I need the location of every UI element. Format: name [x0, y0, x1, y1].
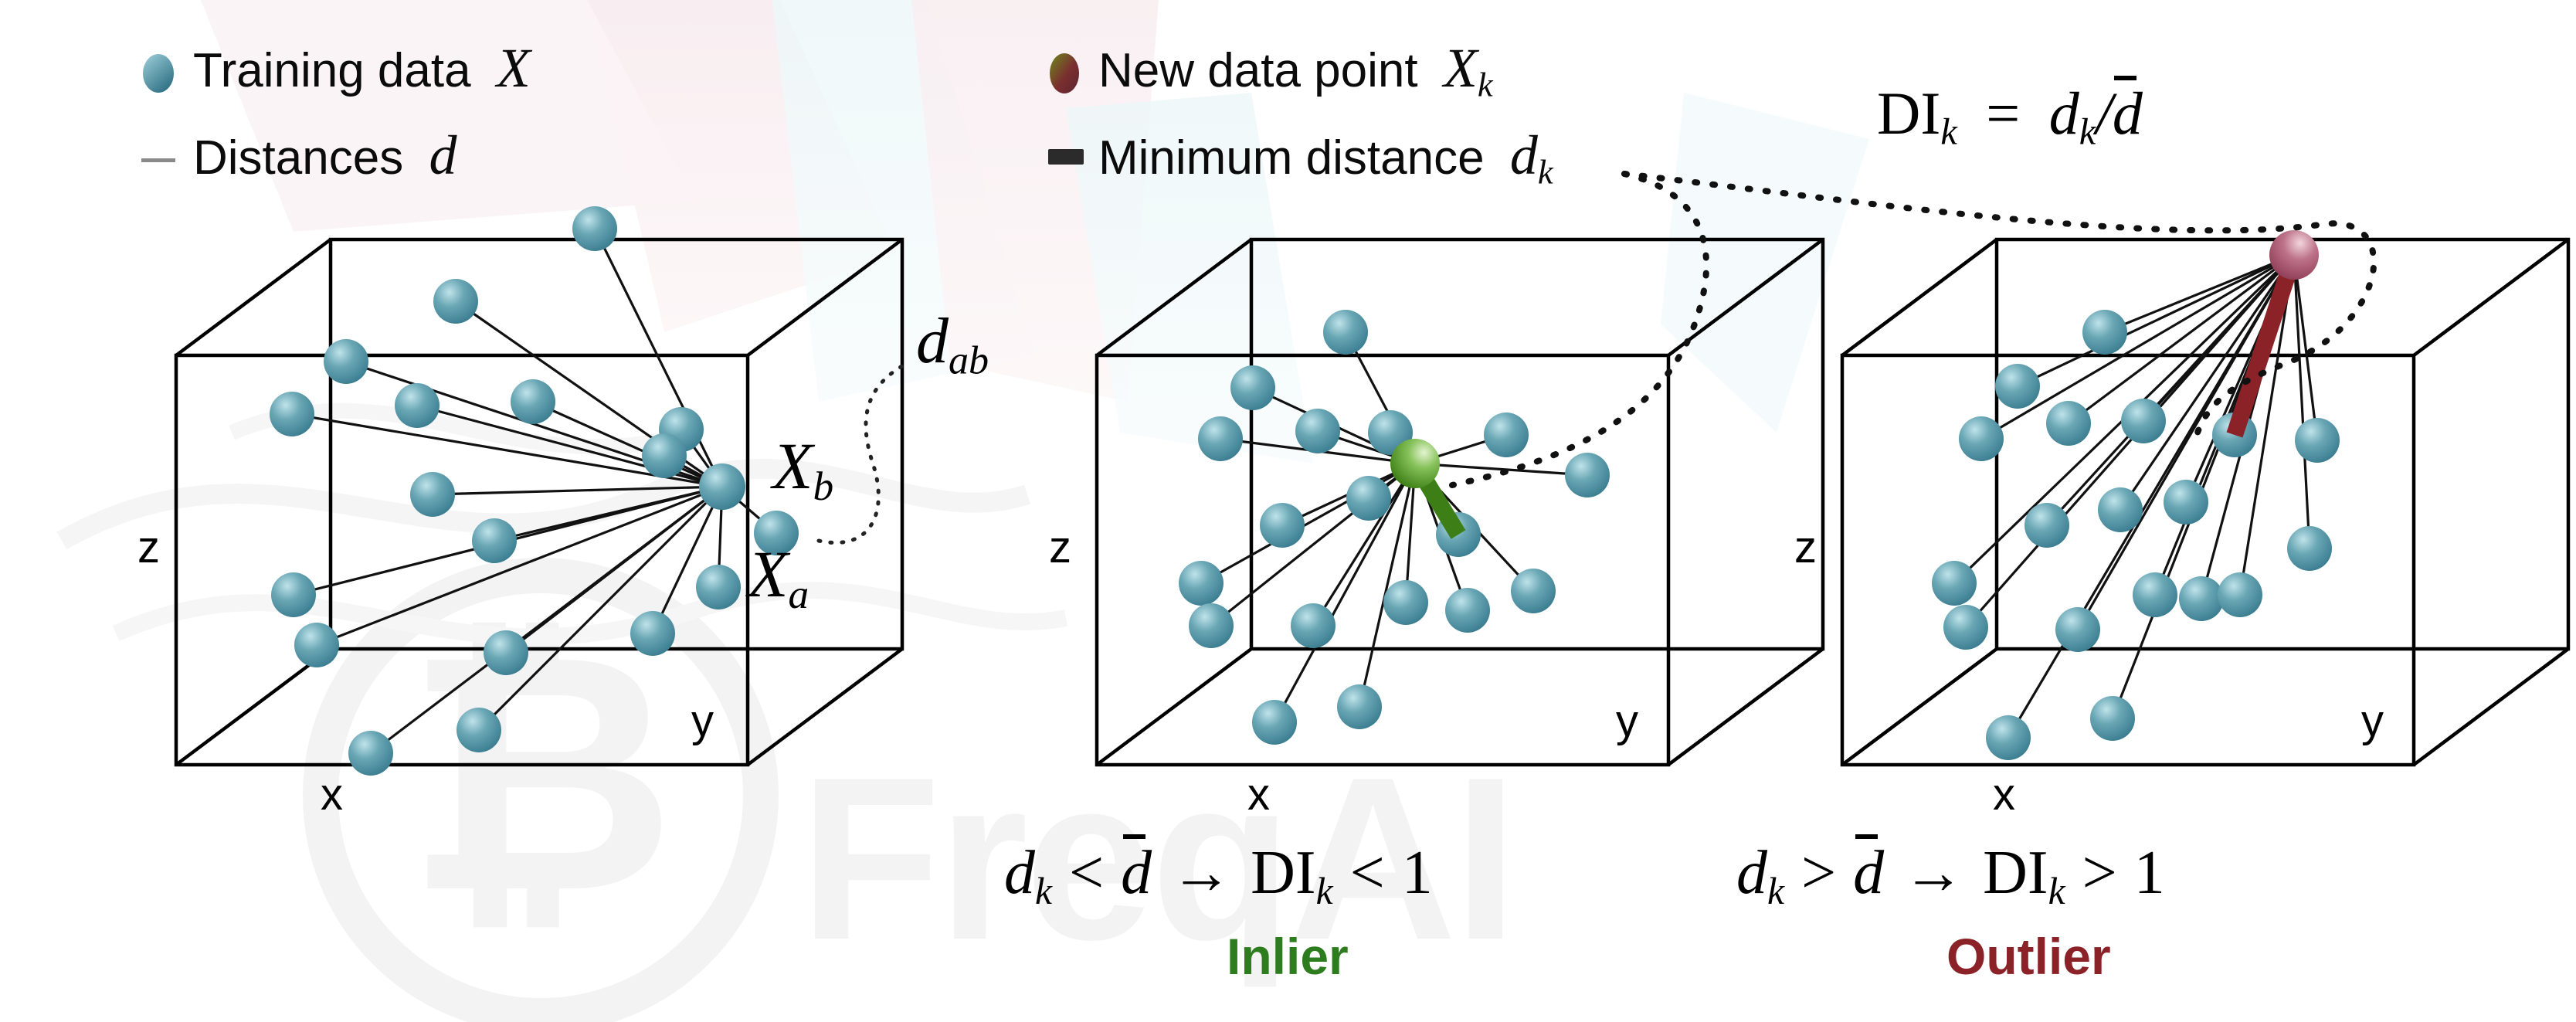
data-point: [1932, 561, 1977, 606]
outlier-relation-2: >: [2065, 839, 2134, 907]
panel-inlier: [1097, 239, 1823, 765]
data-point: [2164, 480, 2208, 525]
legend-distances-symbol: d: [416, 124, 456, 186]
data-point: [1943, 605, 1988, 650]
data-point: [630, 611, 675, 656]
data-point: [1346, 476, 1391, 521]
x-a-symbol: X: [748, 537, 789, 611]
data-point: [1295, 409, 1340, 453]
legend-mindistance-symbol: dk: [1498, 124, 1553, 186]
data-point: [1252, 700, 1297, 745]
data-point: [511, 379, 555, 424]
outlier-rhs-sub: k: [2048, 870, 2065, 912]
data-point: [410, 472, 455, 517]
data-point: [1484, 413, 1529, 457]
data-point: [1986, 715, 2031, 760]
di-equals: =: [1972, 80, 2034, 147]
di-lhs: DI: [1877, 80, 1940, 147]
arrow-icon: →: [1152, 839, 1251, 907]
axis-label-z-panel2: z: [1049, 525, 1071, 570]
data-point: [324, 339, 368, 384]
axis-label-x-panel1: x: [321, 772, 343, 817]
legend-newpoint-symbol: Xk: [1431, 37, 1493, 99]
outlier-relation: >: [1784, 839, 1853, 907]
data-point-xa: [699, 463, 745, 510]
data-point: [348, 731, 393, 776]
data-point: [2046, 401, 2091, 446]
data-point: [1323, 310, 1368, 355]
data-point: [2090, 696, 2135, 741]
data-point: [1179, 561, 1224, 606]
inlier-rhs: DI: [1251, 839, 1315, 907]
inlier-lhs: d: [1004, 839, 1035, 907]
di-numerator-sub: k: [2079, 112, 2096, 153]
data-point: [2121, 399, 2166, 443]
legend-mindistance-label: Minimum distance: [1098, 131, 1485, 185]
data-point: [2295, 418, 2340, 463]
inlier-lhs-sub: k: [1035, 870, 1052, 912]
legend-newpoint-label: New data point: [1098, 44, 1418, 97]
legend-training-symbol: X: [484, 37, 531, 99]
panel-outlier: [1842, 230, 2568, 765]
inlier-rhs-sub: k: [1316, 870, 1333, 912]
data-point: [1383, 580, 1428, 625]
data-point: [642, 433, 687, 478]
data-point: [2024, 503, 2069, 548]
d-ab-symbol: d: [916, 305, 949, 377]
data-point: [2218, 572, 2262, 617]
di-numerator: d: [2049, 80, 2079, 147]
axis-label-z-panel1: z: [137, 525, 160, 570]
axis-label-y-panel1: y: [691, 699, 714, 744]
inlier-relation: <: [1052, 839, 1121, 907]
data-point: [2133, 572, 2177, 617]
outlier-dbar: d: [1853, 839, 1884, 907]
inlier-dbar: d: [1121, 839, 1152, 907]
legend-training-label: Training data: [193, 44, 471, 97]
x-b-sub: b: [813, 463, 834, 509]
data-point: [472, 518, 517, 563]
axis-label-z-panel3: z: [1794, 525, 1817, 570]
di-formula: DIk = dk/d: [1877, 83, 2143, 151]
legend-item-new-data-point: New data point Xk: [1098, 40, 1493, 102]
di-slash: /: [2096, 80, 2113, 147]
data-point: [1260, 503, 1305, 548]
legend-marker-newpoint-circle: [1050, 53, 1079, 93]
data-point: [1291, 603, 1336, 648]
cube-wireframe: [1097, 239, 1823, 765]
data-point: [2179, 576, 2224, 621]
data-point: [1959, 416, 2004, 461]
legend-item-training-data: Training data X: [193, 40, 531, 96]
data-point: [1511, 569, 1556, 613]
data-point: [1337, 684, 1382, 729]
outlier-lhs-sub: k: [1767, 870, 1784, 912]
data-point: [395, 383, 440, 428]
data-point: [2098, 487, 2143, 532]
legend-item-distances: Distances d: [193, 127, 456, 183]
outlier-rhs: DI: [1983, 839, 2048, 907]
outlier-lhs: d: [1736, 839, 1767, 907]
data-point: [294, 623, 339, 667]
outlier-threshold: 1: [2134, 839, 2165, 907]
inlier-verdict: Inlier: [1227, 931, 1349, 982]
outlier-condition: dk>d→DIk>1: [1736, 842, 2165, 910]
data-point: [433, 279, 478, 324]
data-point: [2082, 310, 2127, 355]
legend-marker-mindistance-dash: [1048, 149, 1084, 165]
arrow-icon: →: [1884, 839, 1983, 907]
data-point: [2055, 607, 2100, 652]
data-point: [2287, 526, 2332, 571]
axis-label-x-panel2: x: [1247, 772, 1270, 817]
data-point: [484, 630, 528, 675]
data-point: [1445, 588, 1490, 633]
new-data-point-inlier: [1390, 439, 1440, 488]
legend-marker-training-circle: [143, 54, 174, 93]
data-point: [1995, 364, 2040, 409]
data-point: [1189, 603, 1234, 648]
x-a-sub: a: [789, 571, 809, 617]
figure-canvas: ₿ FreqAI: [0, 0, 2576, 1022]
data-point: [456, 708, 501, 752]
legend-marker-distance-dash: [141, 158, 175, 162]
d-ab-annotation: dab: [916, 309, 989, 382]
label-x-a: Xa: [748, 541, 809, 615]
inlier-condition: dk<d→DIk<1: [1004, 842, 1433, 910]
legend-item-minimum-distance: Minimum distance dk: [1098, 127, 1553, 189]
data-point: [696, 565, 741, 609]
data-point: [572, 206, 617, 251]
data-point: [270, 392, 314, 436]
d-ab-sub: ab: [949, 339, 989, 383]
di-lhs-sub: k: [1940, 112, 1957, 153]
axis-label-x-panel3: x: [1993, 772, 2015, 817]
axis-label-y-panel2: y: [1616, 699, 1638, 744]
inlier-relation-2: <: [1333, 839, 1402, 907]
di-denominator: d: [2113, 80, 2143, 147]
outlier-verdict: Outlier: [1946, 931, 2111, 982]
new-data-point-outlier: [2269, 230, 2319, 280]
x-b-symbol: X: [772, 429, 813, 503]
legend-distances-label: Distances: [193, 131, 403, 185]
training-points: [1179, 310, 1610, 745]
data-point: [1565, 453, 1610, 497]
training-points: [1932, 310, 2340, 760]
inlier-threshold: 1: [1402, 839, 1433, 907]
data-point: [1230, 365, 1275, 410]
data-point: [1198, 416, 1243, 461]
label-x-b: Xb: [772, 433, 833, 507]
axis-label-y-panel3: y: [2361, 699, 2384, 744]
data-point: [271, 572, 316, 617]
